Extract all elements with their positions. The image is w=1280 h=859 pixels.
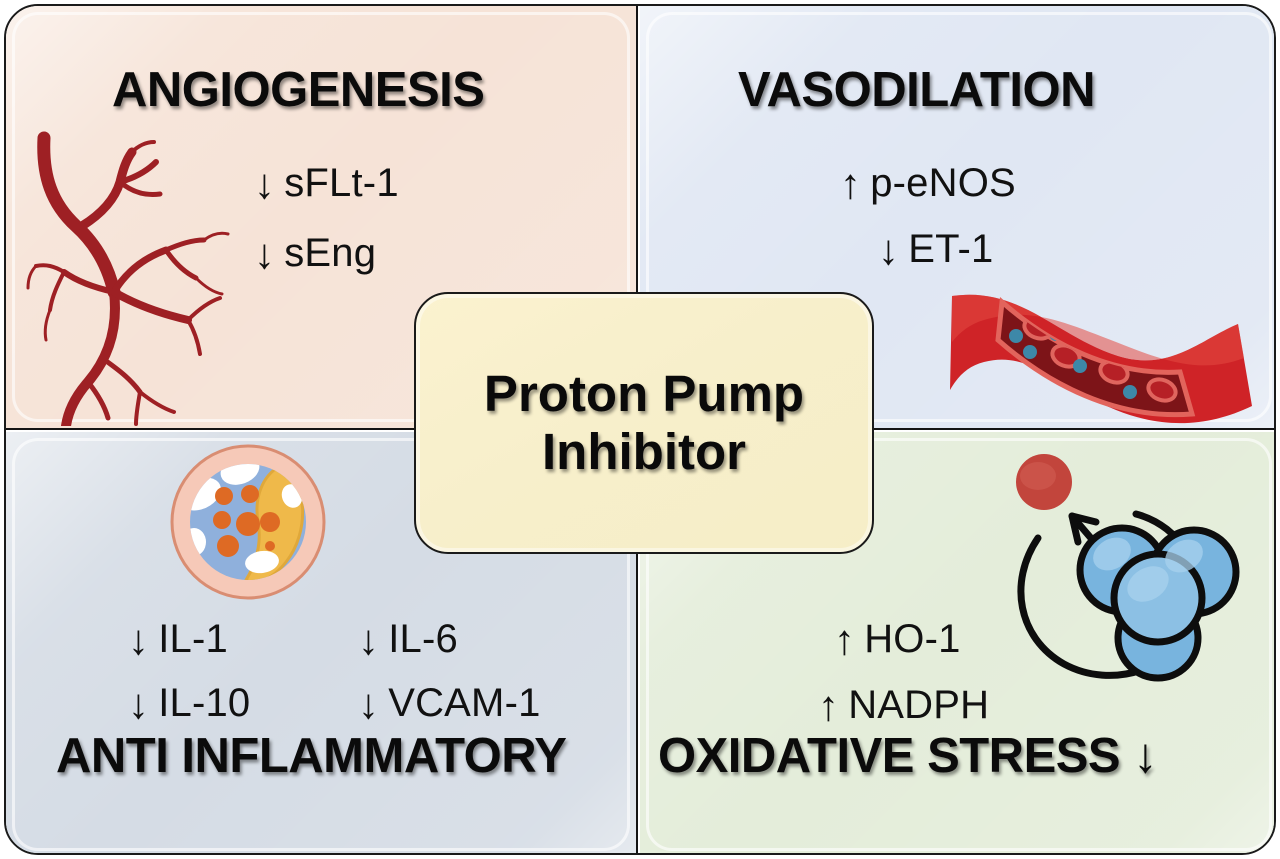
arrow-down-icon: ↓: [128, 680, 149, 728]
marker-il6: ↓IL-6: [358, 614, 458, 662]
marker-label: VCAM-1: [388, 681, 540, 725]
marker-label: NADPH: [848, 683, 989, 727]
quadrant-title-angiogenesis: ANGIOGENESIS: [112, 62, 484, 118]
diagram-canvas: ANGIOGENESIS ↓sFLt-1 ↓sEng: [0, 0, 1280, 859]
marker-il10: ↓IL-10: [128, 678, 250, 726]
center-line-1: Proton Pump: [484, 365, 804, 423]
marker-vcam1: ↓VCAM-1: [358, 678, 541, 726]
marker-label: sFLt-1: [284, 161, 399, 205]
marker-label: IL-6: [388, 617, 458, 661]
marker-label: p-eNOS: [870, 161, 1016, 205]
marker-ho1: ↑HO-1: [834, 614, 961, 662]
arrow-up-icon: ↑: [834, 616, 855, 664]
marker-label: sEng: [284, 231, 376, 275]
marker-il1: ↓IL-1: [128, 614, 228, 662]
quadrant-title-anti-inflammatory: ANTI INFLAMMATORY: [56, 728, 566, 784]
marker-label: ET-1: [908, 227, 993, 271]
center-label-proton-pump-inhibitor: Proton Pump Inhibitor: [414, 292, 874, 554]
arrow-up-icon: ↑: [840, 160, 861, 208]
marker-label: IL-1: [158, 617, 228, 661]
arrow-up-icon: ↑: [818, 682, 839, 730]
quadrant-title-vasodilation: VASODILATION: [738, 62, 1095, 118]
marker-label: IL-10: [158, 681, 250, 725]
marker-sflt1: ↓sFLt-1: [254, 158, 399, 206]
atom-free-radical-icon: [980, 442, 1240, 702]
marker-seng: ↓sEng: [254, 228, 376, 276]
marker-penos: ↑p-eNOS: [840, 158, 1016, 206]
blood-vessel-tree-icon: [22, 130, 252, 426]
quadrant-title-oxidative-stress: OXIDATIVE STRESS ↓: [658, 728, 1157, 784]
arrow-down-icon: ↓: [358, 680, 379, 728]
immune-cell-icon: [158, 436, 338, 608]
marker-label: HO-1: [864, 617, 960, 661]
blood-vessel-cross-section-icon: [880, 280, 1276, 430]
arrow-down-icon: ↓: [128, 616, 149, 664]
arrow-down-icon: ↓: [254, 230, 275, 278]
arrow-down-icon: ↓: [358, 616, 379, 664]
marker-et1: ↓ET-1: [878, 224, 993, 272]
arrow-down-icon: ↓: [878, 226, 899, 274]
marker-nadph: ↑NADPH: [818, 680, 989, 728]
center-line-2: Inhibitor: [542, 423, 746, 481]
arrow-down-icon: ↓: [254, 160, 275, 208]
